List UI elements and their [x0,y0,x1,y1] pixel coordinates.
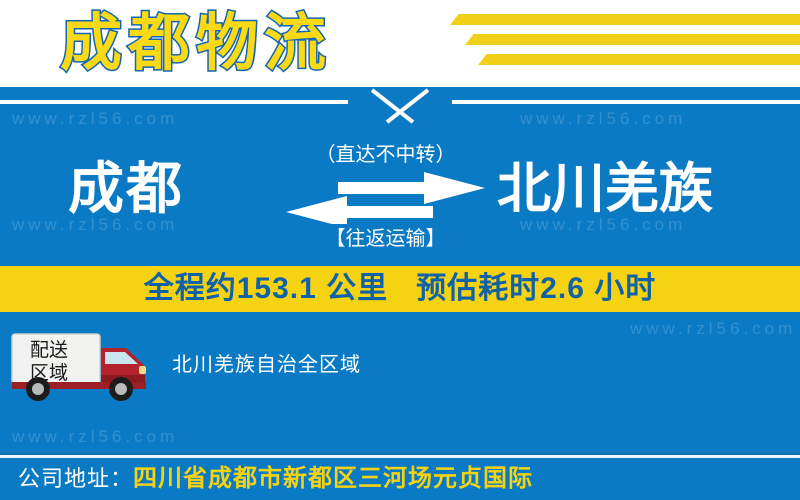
address-label: 公司地址： [18,465,133,493]
delivery-truck-icon: 配送 区域 [8,330,160,402]
stats-text: 全程约153.1 公里预估耗时2.6 小时 [144,271,656,307]
truck-box-line1: 配送 [30,339,68,361]
duration-value: 2.6 [540,272,585,305]
address-bar: 公司地址： 四川省成都市新都区三河场元贞国际 [0,458,800,500]
duration-unit: 小时 [594,272,656,305]
stripe-3 [478,54,800,65]
delivery-row: 配送 区域 北川羌族自治全区域 [0,330,800,410]
route-arrow-group: （直达不中转） 【往返运输】 [288,142,483,252]
bidirectional-arrow-icon [286,172,485,224]
route-note-top: （直达不中转） [288,142,483,168]
duration-label: 预估耗时 [416,272,540,305]
logistics-banner: 成都物流 www.rzl56.com www.rzl56.com www.rzl… [0,0,800,500]
stripe-1 [450,14,800,25]
header-band: 成都物流 [0,0,800,87]
stats-band: 全程约153.1 公里预估耗时2.6 小时 [0,266,800,312]
stripe-2 [465,34,800,45]
distance-unit: 公里 [326,272,388,305]
address-value: 四川省成都市新都区三河场元贞国际 [133,465,533,493]
distance-label: 全程约 [144,272,237,305]
route-row: 成都 （直达不中转） 【往返运输】 北川羌族 [0,142,800,252]
watermark: www.rzl56.com [520,109,686,129]
truck-box-line2: 区域 [30,362,68,384]
delivery-area-text: 北川羌族自治全区域 [172,352,361,378]
watermark: www.rzl56.com [12,109,178,129]
distance-value: 153.1 [237,272,317,305]
origin-city: 成都 [68,150,184,228]
destination-city: 北川羌族 [497,150,713,228]
route-note-bottom: 【往返运输】 [288,226,483,252]
main-body: www.rzl56.com www.rzl56.com www.rzl56.co… [0,87,800,455]
chevron-down-icon [348,96,452,130]
yellow-stripes-decor [380,14,800,76]
watermark: www.rzl56.com [12,427,178,447]
page-title: 成都物流 [60,4,332,84]
